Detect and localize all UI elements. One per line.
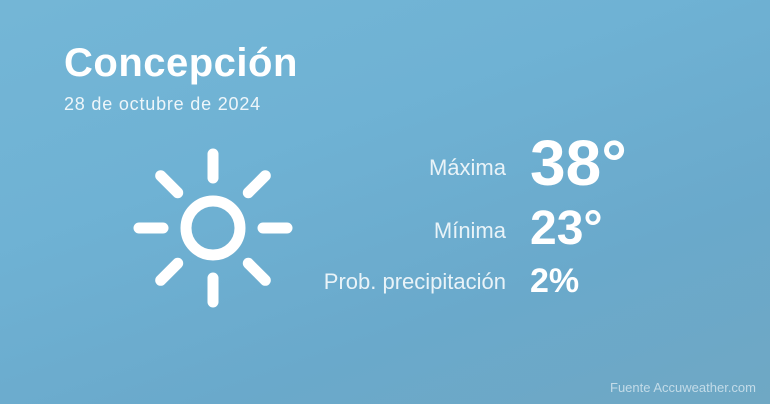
- page-title: Concepción: [64, 43, 298, 83]
- source-attribution: Fuente Accuweather.com: [610, 380, 756, 395]
- stat-row: Mínima 23°: [300, 203, 720, 256]
- sun-icon: [133, 148, 293, 308]
- stat-value-max: 38°: [530, 130, 720, 197]
- forecast-date: 28 de octubre de 2024: [64, 95, 261, 113]
- stat-label-max: Máxima: [429, 155, 530, 181]
- stat-row: Máxima 38°: [300, 130, 720, 197]
- stat-row: Prob. precipitación 2%: [300, 262, 720, 301]
- stat-value-precipitation: 2%: [530, 262, 720, 301]
- stat-label-precipitation: Prob. precipitación: [324, 269, 530, 295]
- forecast-stats: Máxima 38° Mínima 23° Prob. precipitació…: [300, 130, 720, 307]
- stat-label-min: Mínima: [434, 218, 530, 244]
- weather-card: Concepción 28 de octubre de 2024 Máxima …: [0, 0, 770, 404]
- stat-value-min: 23°: [530, 203, 720, 256]
